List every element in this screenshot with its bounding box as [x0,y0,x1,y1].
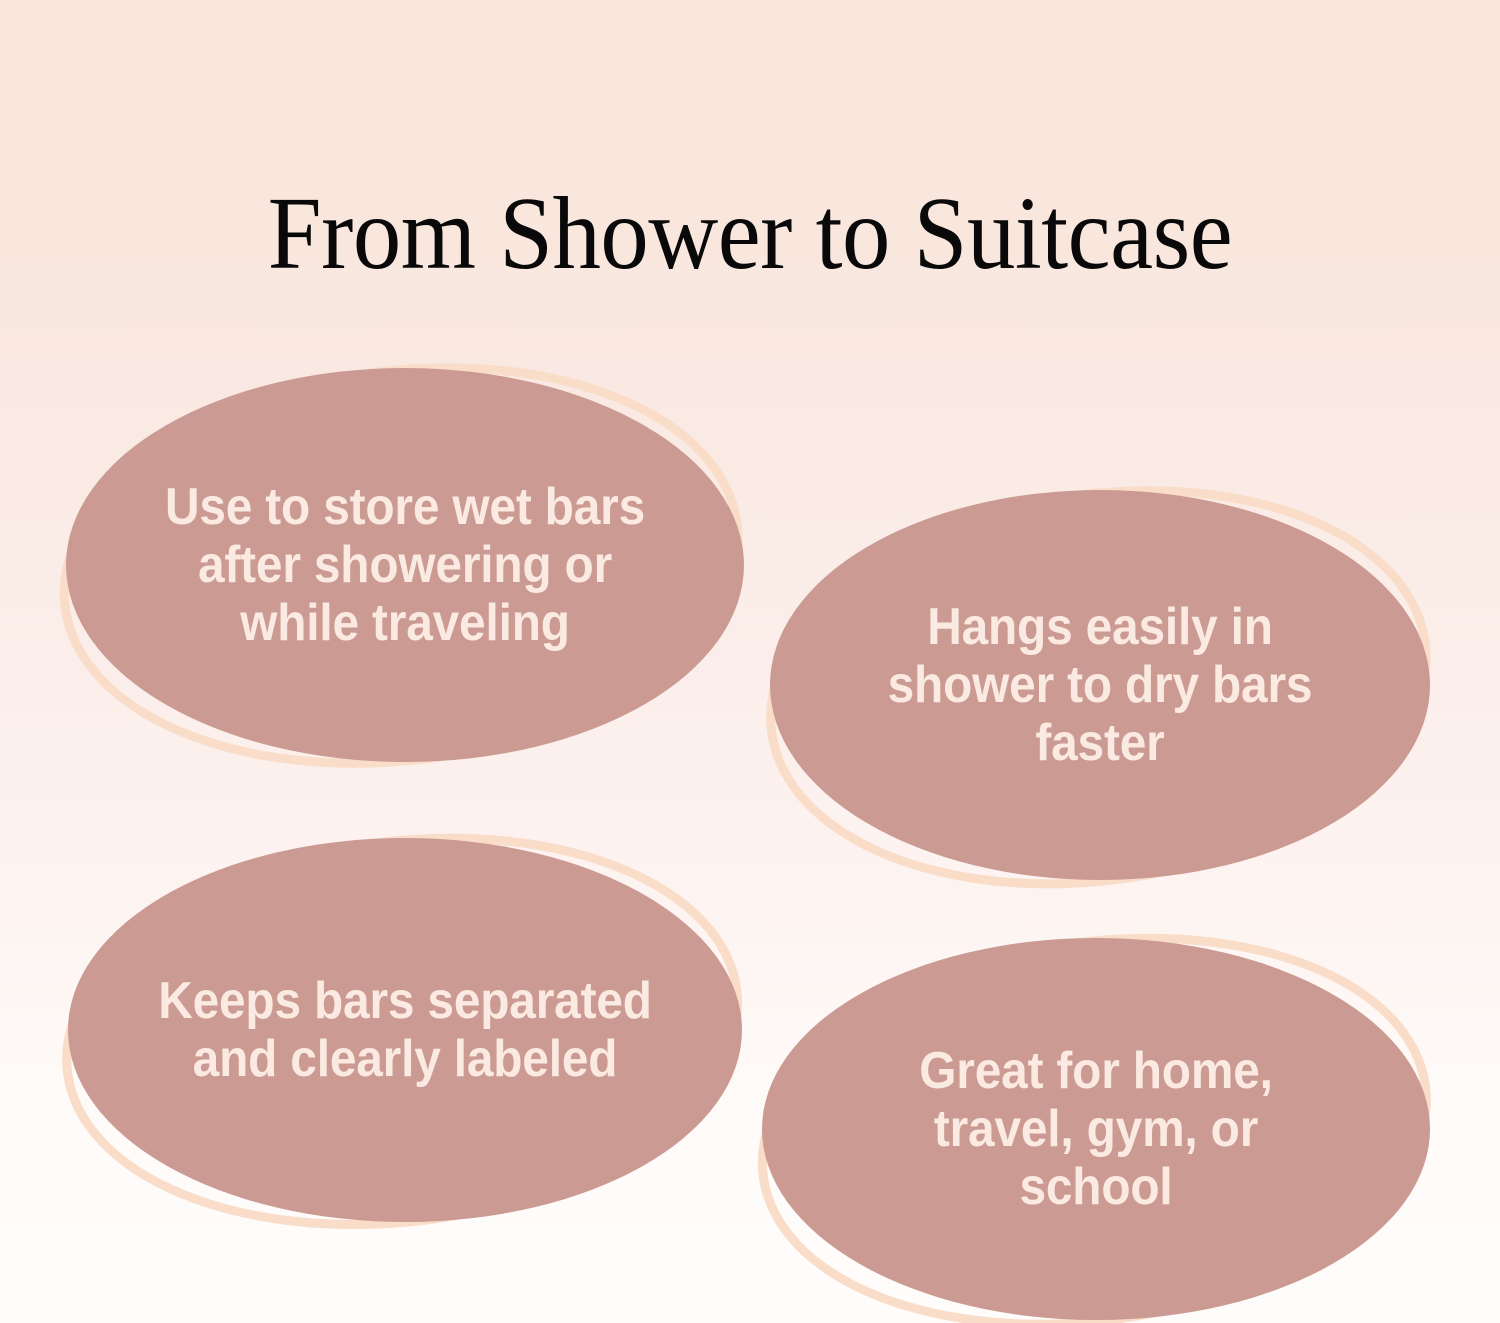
infographic-poster: From Shower to Suitcase Use to store wet… [0,0,1500,1323]
benefit-bubble-store-wet-bars: Use to store wet bars after showering or… [66,368,744,762]
bubble-label: Use to store wet bars after showering or… [93,368,717,762]
bubble-label: Great for home, travel, gym, or school [789,938,1404,1320]
benefit-bubble-great-for-home-travel: Great for home, travel, gym, or school [762,938,1430,1320]
benefit-bubble-hangs-in-shower: Hangs easily in shower to dry bars faste… [770,490,1430,880]
benefit-bubble-bars-separated: Keeps bars separated and clearly labeled [68,838,742,1222]
bubble-label: Keeps bars separated and clearly labeled [95,838,715,1222]
bubble-label: Hangs easily in shower to dry bars faste… [796,490,1403,880]
page-title: From Shower to Suitcase [53,182,1448,286]
